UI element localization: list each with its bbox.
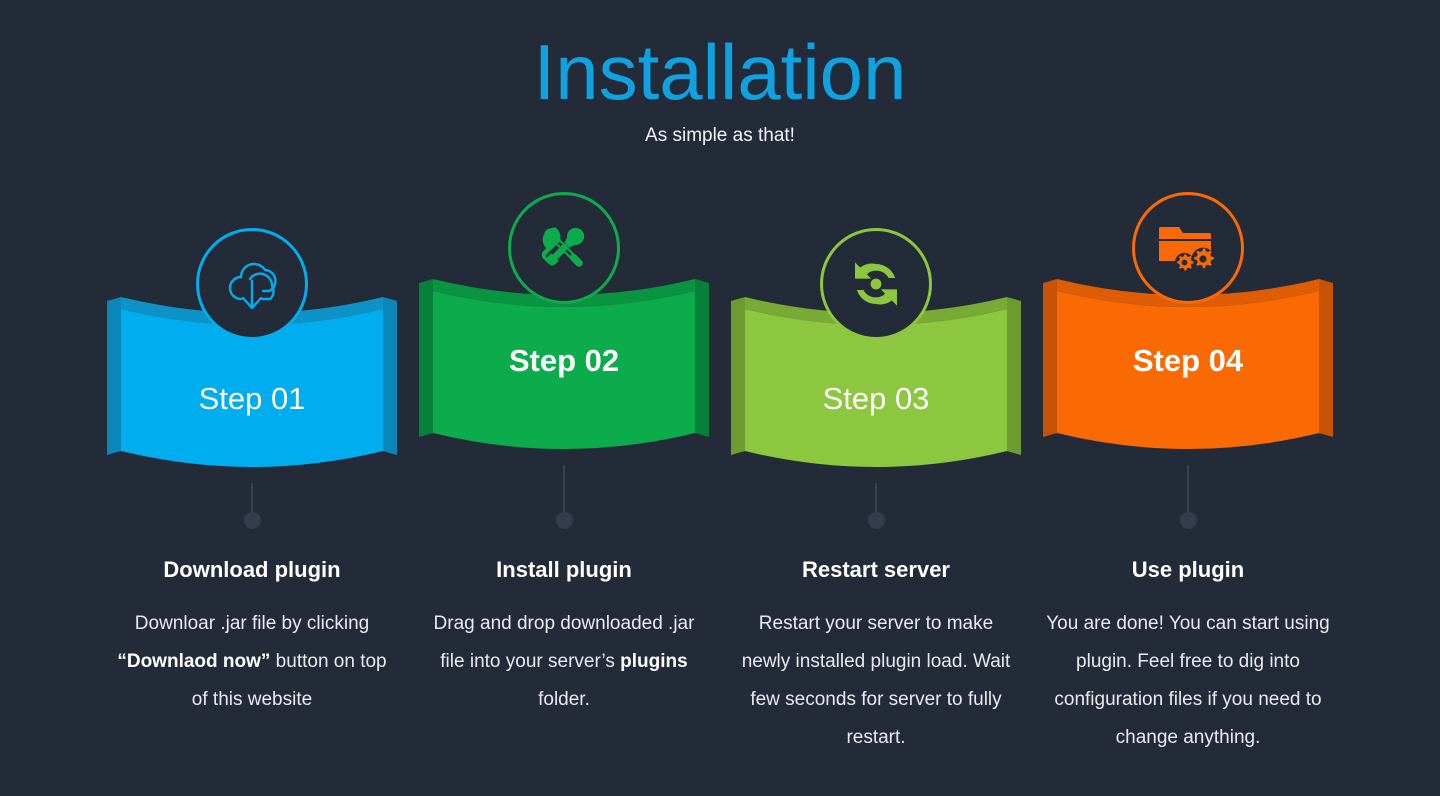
connector-dot — [244, 512, 261, 529]
step-label-3: Step 03 — [731, 381, 1021, 417]
step-column-3: Step 03Restart serverRestart your server… — [720, 190, 1032, 757]
page-subtitle: As simple as that! — [0, 124, 1440, 148]
desc-segment: plugins — [620, 651, 688, 672]
step-column-4: Step 04Use pluginYou are done! You can s… — [1032, 190, 1344, 757]
step-text-desc-2: Drag and drop downloaded .jar file into … — [419, 605, 709, 719]
connector-line — [251, 483, 253, 513]
connector-line — [875, 483, 877, 513]
step-banner-2[interactable]: Step 02 — [419, 265, 709, 465]
desc-segment: “Downlaod now” — [117, 651, 270, 672]
step-banner-4[interactable]: Step 04 — [1043, 265, 1333, 465]
step-text-block-1: Download pluginDownloar .jar file by cli… — [107, 557, 397, 719]
step-text-desc-3: Restart your server to make newly instal… — [731, 605, 1021, 757]
step-banner-1[interactable]: Step 01 — [107, 283, 397, 483]
connector-dot — [1180, 512, 1197, 529]
step-text-desc-1: Downloar .jar file by clicking “Downlaod… — [107, 605, 397, 719]
steps-row: Step 01Download pluginDownloar .jar file… — [0, 190, 1440, 790]
desc-segment: Restart your server to make newly instal… — [742, 613, 1011, 748]
desc-segment: folder. — [538, 689, 590, 710]
connector-line — [563, 465, 565, 513]
step-label-4: Step 04 — [1043, 343, 1333, 379]
step-text-desc-4: You are done! You can start using plugin… — [1043, 605, 1333, 757]
step-text-title-3: Restart server — [731, 557, 1021, 583]
step-column-1: Step 01Download pluginDownloar .jar file… — [96, 190, 408, 719]
step-text-title-4: Use plugin — [1043, 557, 1333, 583]
step-label-2: Step 02 — [419, 343, 709, 379]
connector-dot — [868, 512, 885, 529]
step-connector-1 — [251, 483, 253, 529]
page-title: Installation — [0, 30, 1440, 114]
step-text-block-4: Use pluginYou are done! You can start us… — [1043, 557, 1333, 757]
desc-segment: Downloar .jar file by clicking — [135, 613, 369, 634]
step-badge-4[interactable] — [1132, 192, 1244, 304]
step-badge-3[interactable] — [820, 228, 932, 340]
step-text-title-2: Install plugin — [419, 557, 709, 583]
refresh-sync-icon — [848, 258, 904, 310]
cloud-download-icon — [221, 255, 283, 313]
step-badge-2[interactable] — [508, 192, 620, 304]
step-text-block-3: Restart serverRestart your server to mak… — [731, 557, 1021, 757]
step-text-block-2: Install pluginDrag and drop downloaded .… — [419, 557, 709, 719]
step-label-1: Step 01 — [107, 381, 397, 417]
connector-dot — [556, 512, 573, 529]
step-badge-1[interactable] — [196, 228, 308, 340]
step-column-2: Step 02Install pluginDrag and drop downl… — [408, 190, 720, 719]
step-banner-3[interactable]: Step 03 — [731, 283, 1021, 483]
tools-icon — [535, 219, 593, 277]
step-connector-3 — [875, 483, 877, 529]
folder-gears-icon — [1157, 221, 1219, 275]
desc-segment: You are done! You can start using plugin… — [1046, 613, 1329, 748]
page-header: Installation As simple as that! — [0, 0, 1440, 148]
connector-line — [1187, 465, 1189, 513]
step-text-title-1: Download plugin — [107, 557, 397, 583]
step-connector-2 — [563, 465, 565, 529]
step-connector-4 — [1187, 465, 1189, 529]
